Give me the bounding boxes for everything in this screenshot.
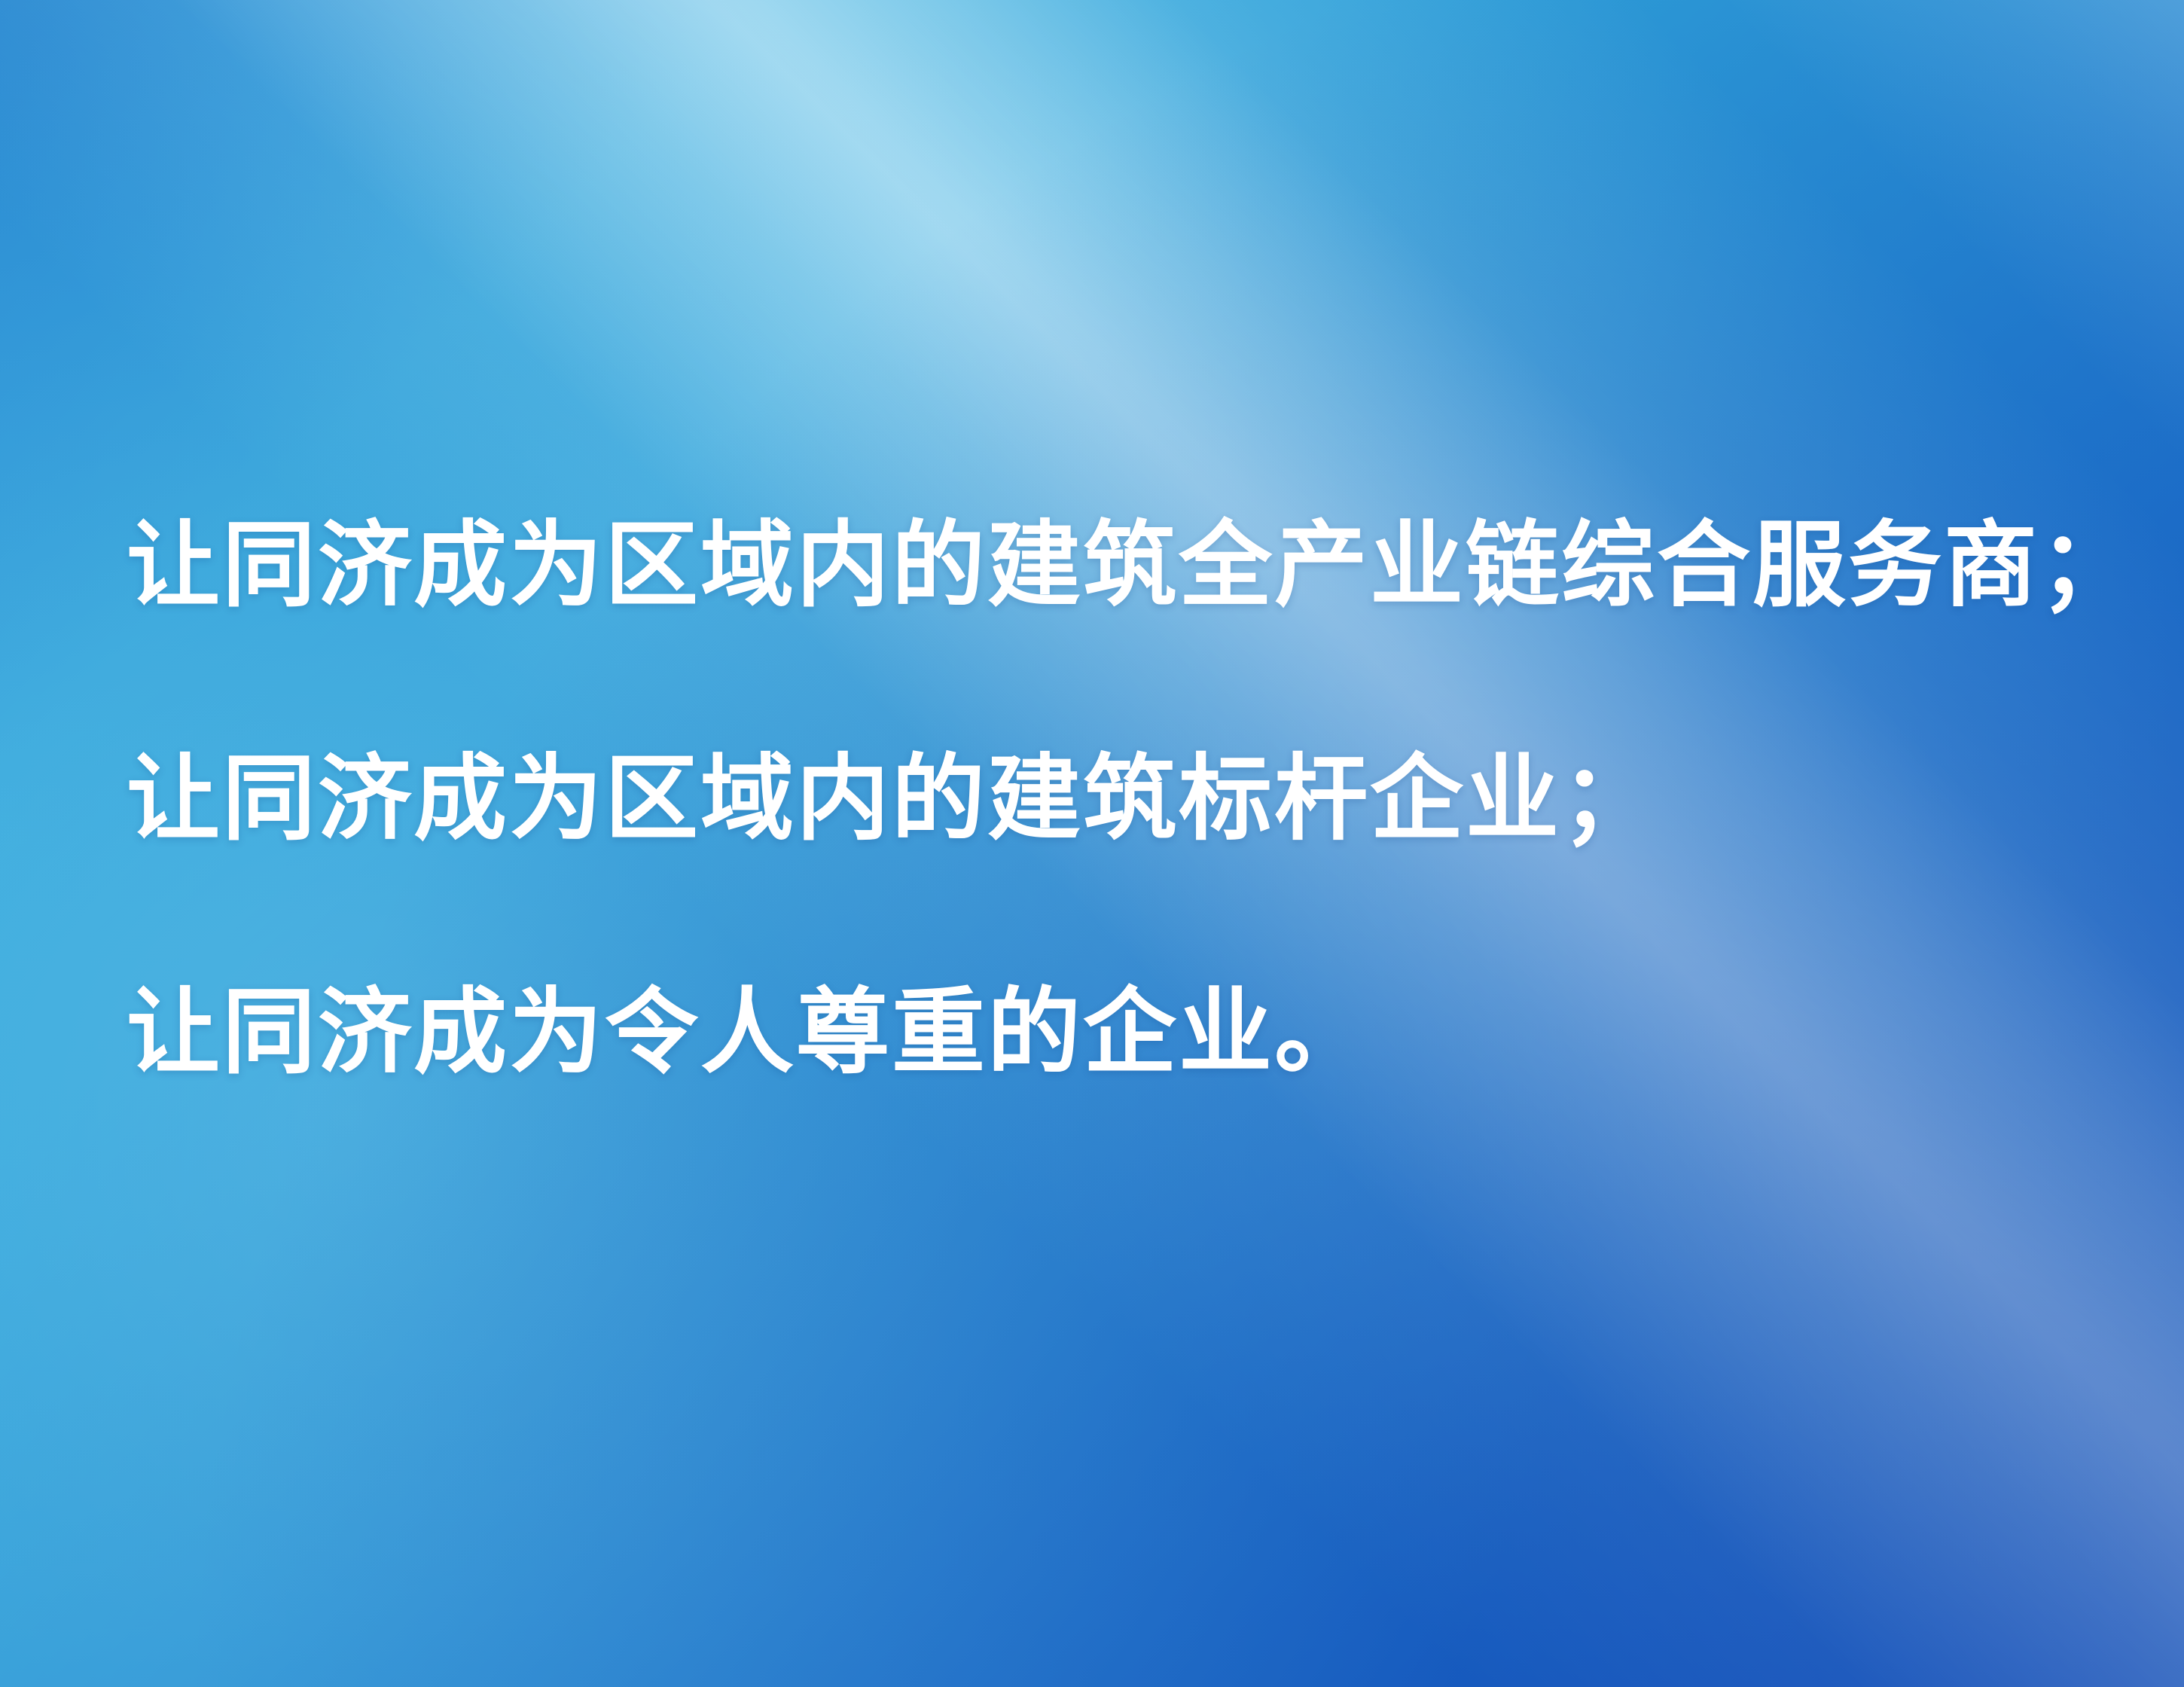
presentation-slide: 让同济成为区域内的建筑全产业链综合服务商； 让同济成为区域内的建筑标杆企业； 让… xyxy=(0,0,2184,1687)
slide-text-line-3: 让同济成为令人尊重的企业。 xyxy=(127,916,2085,1149)
slide-text-line-1: 让同济成为区域内的建筑全产业链综合服务商； xyxy=(127,449,2085,682)
slide-text-line-2: 让同济成为区域内的建筑标杆企业； xyxy=(127,682,2085,916)
slide-body-text: 让同济成为区域内的建筑全产业链综合服务商； 让同济成为区域内的建筑标杆企业； 让… xyxy=(127,449,2085,1149)
